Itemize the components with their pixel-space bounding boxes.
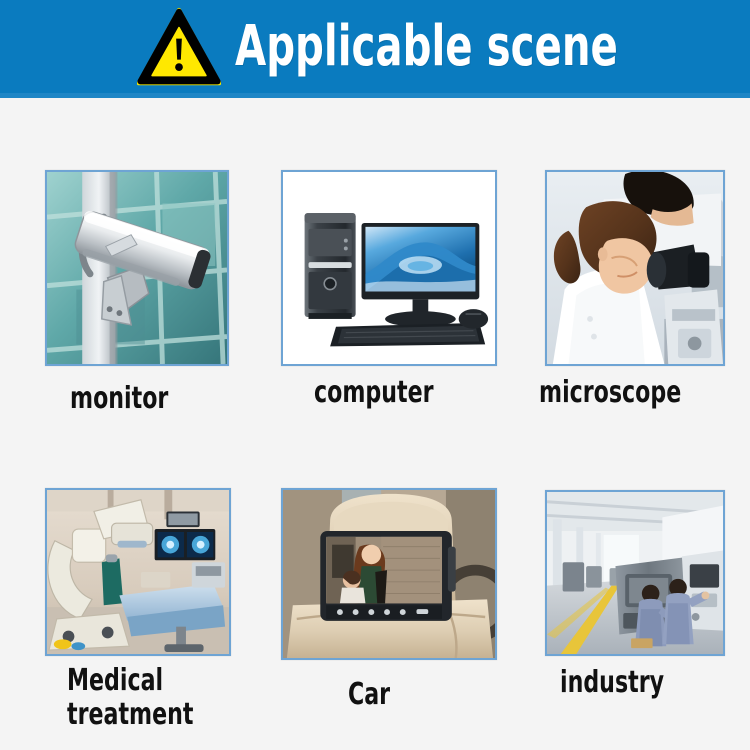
warning-triangle-icon	[137, 7, 221, 87]
cctv-camera-photo	[47, 172, 227, 364]
scene-card-industry[interactable]: industry	[545, 490, 725, 656]
header-banner: Applicable scene	[0, 0, 750, 93]
operating-room-photo	[47, 490, 229, 654]
page-title: Applicable scene	[235, 18, 618, 76]
scene-label-medical: Medical treatment	[67, 664, 193, 732]
scene-image-frame-medical	[45, 488, 231, 656]
scene-label-computer: computer	[314, 376, 434, 410]
scene-image-frame-microscope	[545, 170, 725, 366]
scene-image-frame-monitor	[45, 170, 229, 366]
scene-card-microscope[interactable]: microscope	[545, 170, 725, 366]
scene-grid: monitor	[0, 98, 750, 750]
scene-card-monitor[interactable]: monitor	[45, 170, 229, 366]
factory-workshop-photo	[547, 492, 723, 654]
scene-card-computer[interactable]: computer	[281, 170, 497, 366]
scene-image-frame-car	[281, 488, 497, 660]
scene-image-frame-computer	[281, 170, 497, 366]
scene-label-car: Car	[348, 678, 390, 712]
scene-card-car[interactable]: Car	[281, 488, 497, 660]
microscope-lab-photo	[547, 172, 723, 364]
scene-label-industry: industry	[560, 666, 664, 700]
scene-card-medical[interactable]: Medical treatment	[45, 488, 231, 656]
scene-label-monitor: monitor	[70, 382, 168, 416]
car-headrest-monitor-photo	[283, 490, 495, 658]
scene-image-frame-industry	[545, 490, 725, 656]
scene-label-microscope: microscope	[539, 376, 681, 410]
desktop-computer-photo	[283, 172, 495, 364]
